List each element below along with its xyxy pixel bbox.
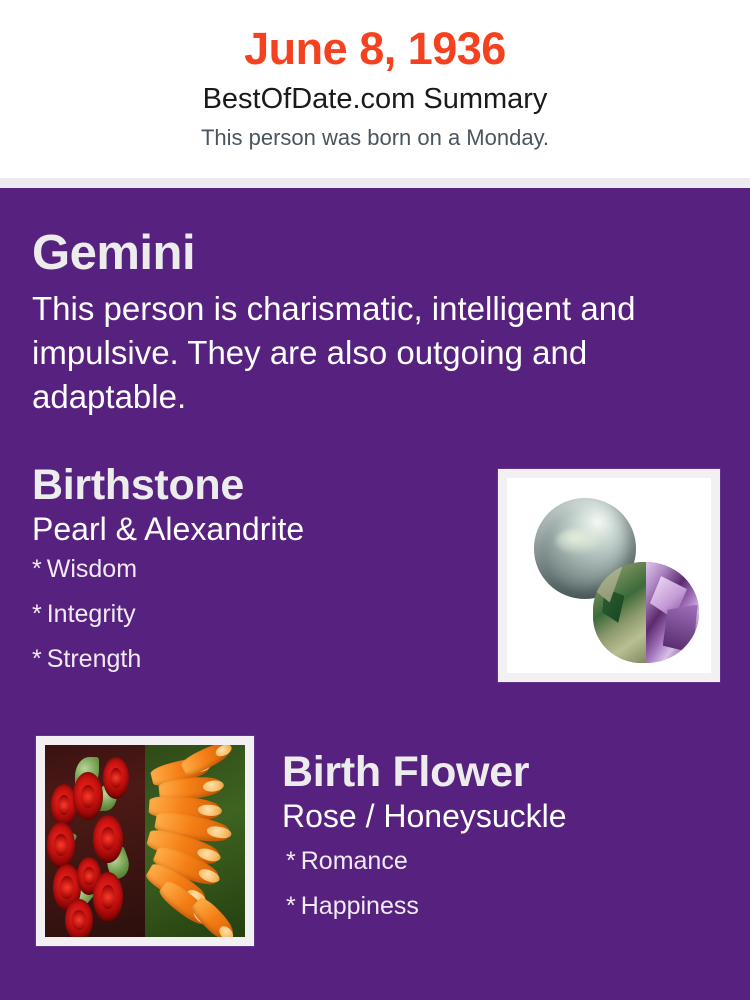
list-item: *Happiness [286,894,750,919]
alexandrite-cut-half [646,562,699,663]
birth-flower-trait-list: *Romance *Happiness [282,849,750,919]
birthstone-section: Birthstone Pearl & Alexandrite *Wisdom *… [0,463,750,692]
birthstone-title: Birthstone [32,463,498,509]
list-item-label: Happiness [301,892,419,920]
date-summary-card: June 8, 1936 BestOfDate.com Summary This… [0,0,750,1000]
page-title: June 8, 1936 [0,22,750,77]
birth-flower-names: Rose / Honeysuckle [282,798,750,835]
alexandrite-gem-shape [593,562,699,663]
roses-photo-half [45,745,145,937]
birthstone-image [507,478,711,673]
list-item-label: Integrity [47,600,136,628]
list-item: *Strength [32,647,498,672]
site-summary-label: BestOfDate.com Summary [0,81,750,119]
zodiac-section: Gemini This person is charismatic, intel… [0,188,750,419]
birthstone-image-frame [498,469,720,682]
list-item-label: Wisdom [47,555,137,583]
body-content: Gemini This person is charismatic, intel… [0,188,750,946]
birth-flower-image-frame [36,736,254,946]
list-item: *Integrity [32,602,498,627]
list-item: *Wisdom [32,557,498,582]
birth-flower-image [45,745,245,937]
bullet-star-icon: * [286,892,296,920]
honeysuckle-photo-half [145,745,245,937]
bullet-star-icon: * [286,847,296,875]
birth-flower-title: Birth Flower [282,750,750,796]
birth-flower-text-block: Birth Flower Rose / Honeysuckle *Romance… [282,732,750,938]
list-item-label: Strength [47,645,142,673]
bullet-star-icon: * [32,555,42,583]
list-item: *Romance [286,849,750,874]
birthstone-trait-list: *Wisdom *Integrity *Strength [32,557,498,672]
born-day-text: This person was born on a Monday. [0,124,750,153]
birthstone-names: Pearl & Alexandrite [32,511,498,548]
bullet-star-icon: * [32,645,42,673]
header-divider [0,178,750,188]
zodiac-sign-name: Gemini [32,228,720,279]
header: June 8, 1936 BestOfDate.com Summary This… [0,0,750,178]
alexandrite-rough-half [593,562,646,663]
birthstone-text-block: Birthstone Pearl & Alexandrite *Wisdom *… [32,463,498,692]
zodiac-description: This person is charismatic, intelligent … [32,287,702,419]
list-item-label: Romance [301,847,408,875]
birth-flower-section: Birth Flower Rose / Honeysuckle *Romance… [0,732,750,946]
bullet-star-icon: * [32,600,42,628]
